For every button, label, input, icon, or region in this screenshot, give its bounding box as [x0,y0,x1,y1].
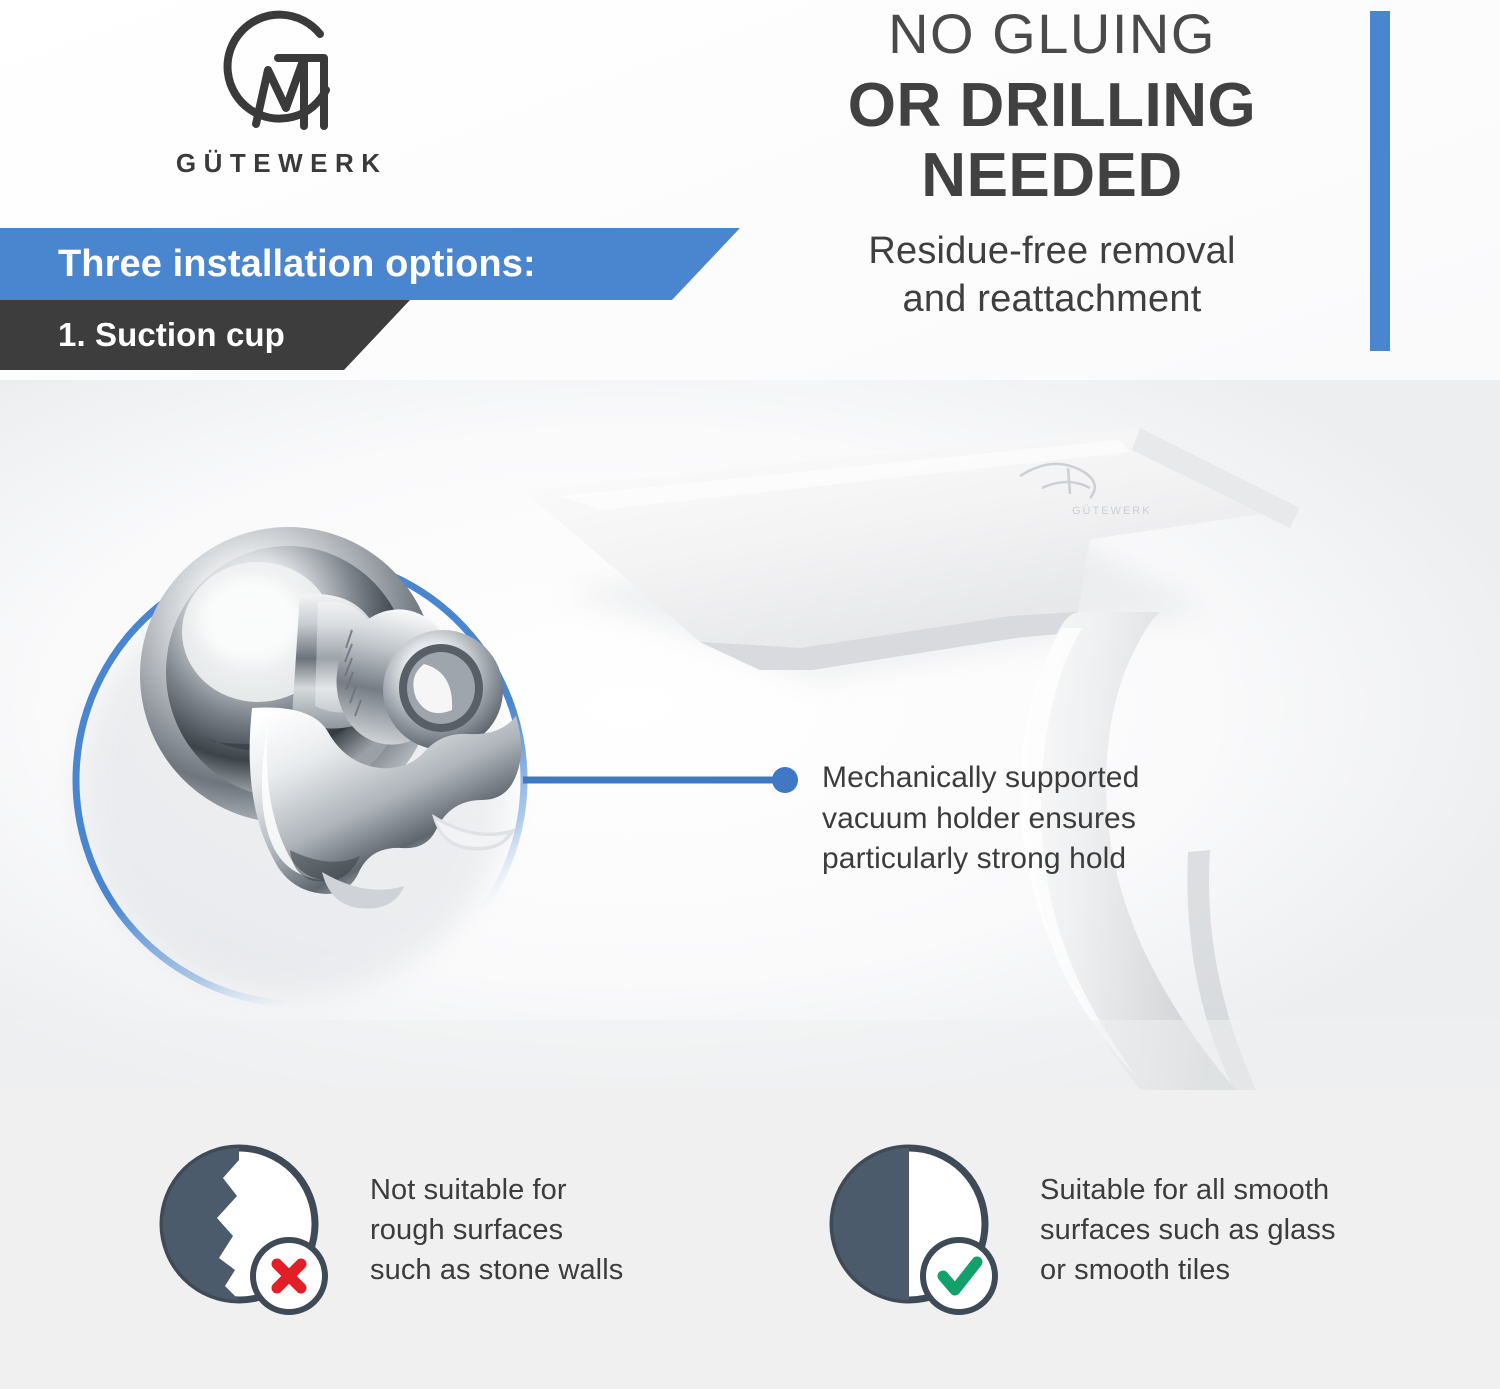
leader-line-dot [772,767,798,793]
vacuum-holder-callout: Mechanically supported vacuum holder ens… [822,758,1222,880]
headline-line-3: NEEDED [732,141,1372,210]
infographic-page: GÜTEWERK [0,0,1500,1389]
headline-subtitle: Residue-free removal and reattachment [732,228,1372,324]
smooth-surface-text: Suitable for all smooth surfaces such as… [1040,1170,1336,1290]
option-step-banner: 1. Suction cup [0,300,410,370]
headline-block: NO GLUING OR DRILLING NEEDED Residue-fre… [732,0,1372,324]
guetewerk-g-mark-icon [200,4,350,144]
suitability-item-rough: Not suitable for rough surfaces such as … [155,1140,623,1320]
suction-cup-mouth [383,630,503,750]
accent-vertical-bar [1370,11,1390,351]
rough-surface-circle-icon [155,1140,335,1320]
option-step-label: 1. Suction cup [58,316,285,354]
installation-options-label: Three installation options: [58,243,536,286]
installation-options-banner: Three installation options: [0,228,740,300]
suitability-item-smooth: Suitable for all smooth surfaces such as… [825,1140,1336,1320]
rough-surface-text: Not suitable for rough surfaces such as … [370,1170,623,1290]
headline-line-1: NO GLUING [732,4,1372,63]
svg-text:GÜTEWERK: GÜTEWERK [1072,505,1152,517]
smooth-surface-circle-icon [825,1140,1005,1320]
brand-logo: GÜTEWERK [148,4,408,194]
product-stage: GÜTEWERK [0,0,1500,1090]
brand-wordmark: GÜTEWERK [148,148,408,179]
product-illustration: GÜTEWERK [0,380,1500,1090]
green-check-badge-icon [923,1240,995,1312]
headline-line-2: OR DRILLING [732,71,1372,140]
